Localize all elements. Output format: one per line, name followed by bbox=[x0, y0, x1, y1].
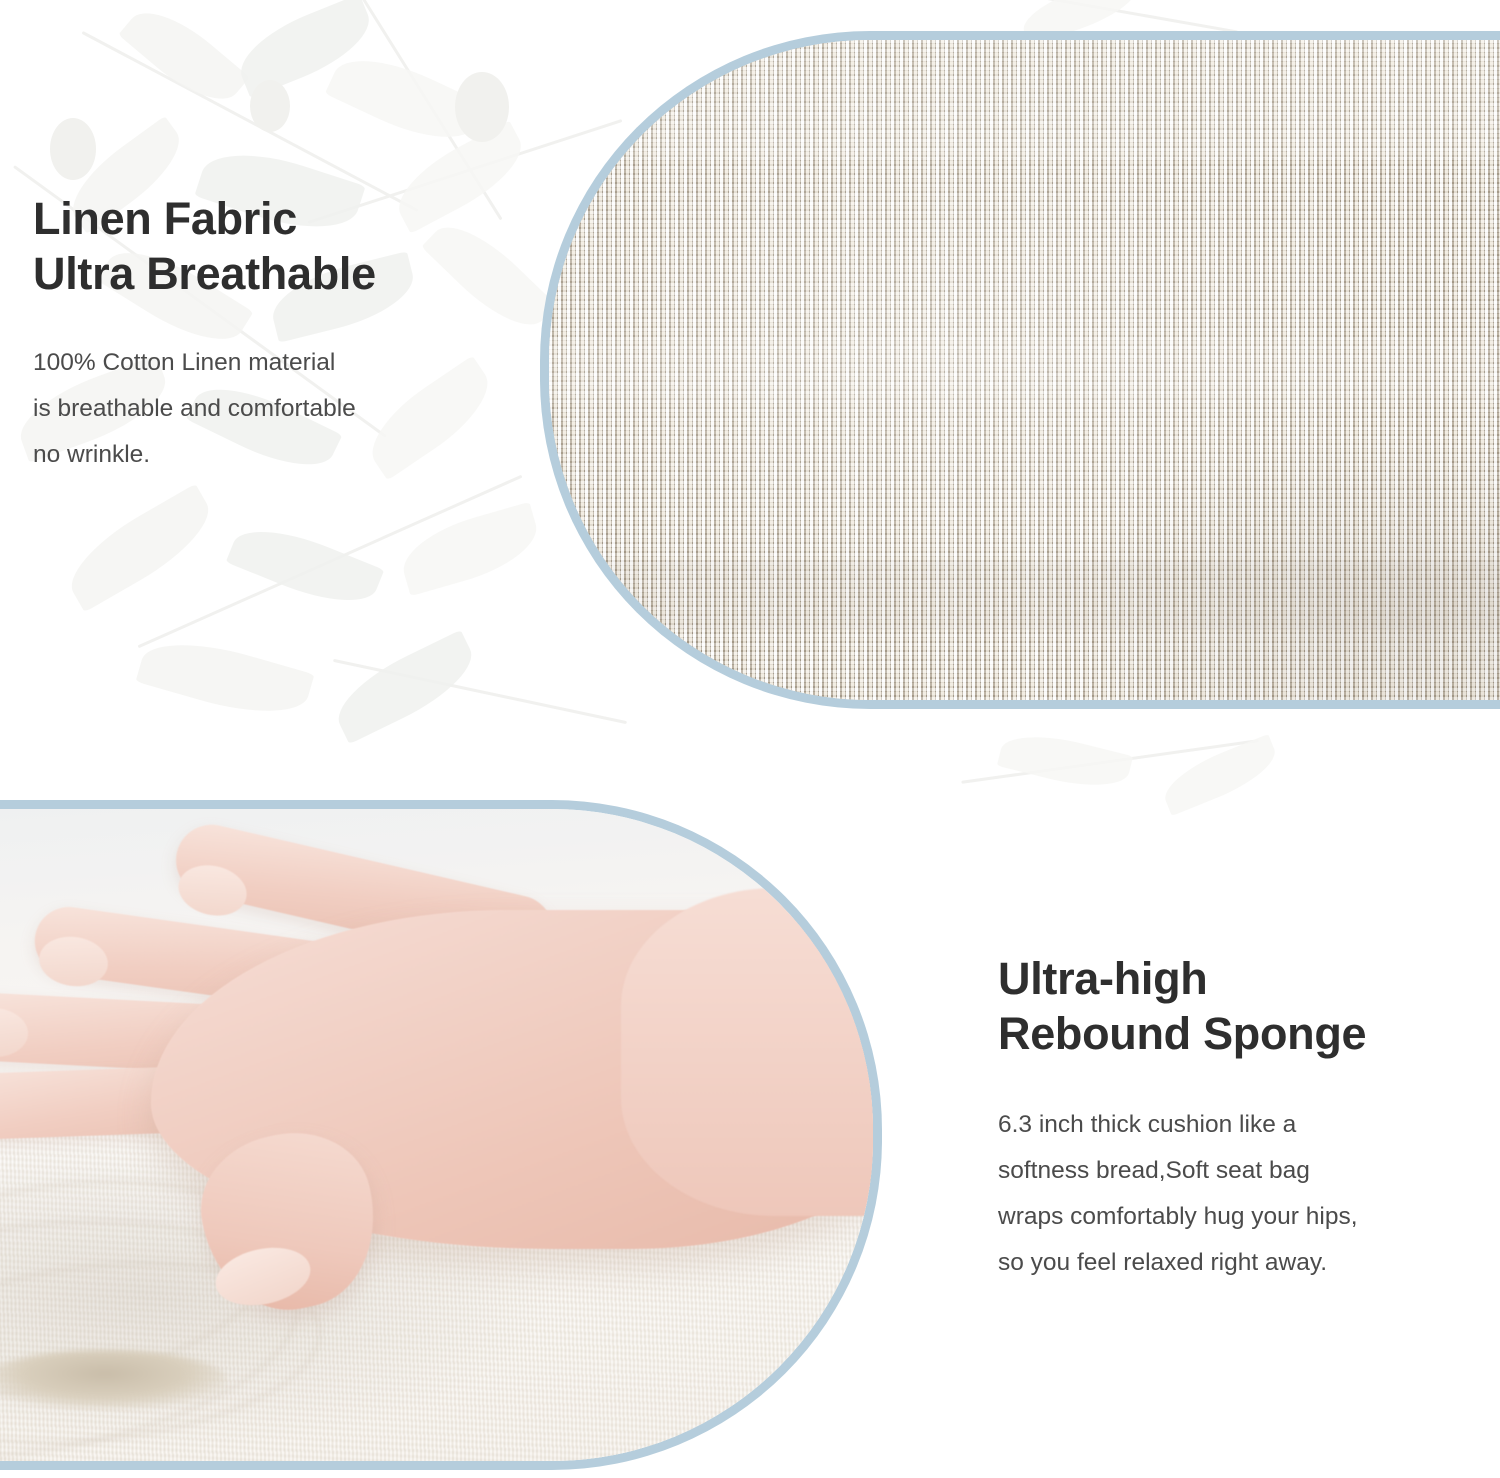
linen-text-block: Linen Fabric Ultra Breathable 100% Cotto… bbox=[33, 192, 503, 478]
sponge-body-line-1: 6.3 inch thick cushion like a bbox=[998, 1102, 1493, 1148]
sponge-body-line-2: softness bread,Soft seat bag bbox=[998, 1148, 1493, 1194]
linen-headline-line-1: Linen Fabric bbox=[33, 192, 503, 247]
sponge-headline-line-1: Ultra-high bbox=[998, 952, 1493, 1007]
sponge-text-block: Ultra-high Rebound Sponge 6.3 inch thick… bbox=[998, 952, 1493, 1286]
linen-headline-line-2: Ultra Breathable bbox=[33, 247, 503, 302]
product-feature-image: Linen Fabric Ultra Breathable 100% Cotto… bbox=[0, 0, 1500, 1478]
sponge-body-line-3: wraps comfortably hug your hips, bbox=[998, 1194, 1493, 1240]
linen-fabric-image-panel bbox=[540, 31, 1500, 709]
hand-graphic bbox=[0, 822, 873, 1370]
memory-foam-image-panel bbox=[0, 800, 882, 1470]
hand-pressing-memory-foam-image bbox=[0, 809, 873, 1461]
wrist bbox=[621, 888, 873, 1217]
linen-body-line-1: 100% Cotton Linen material bbox=[33, 340, 503, 386]
linen-body-line-3: no wrinkle. bbox=[33, 432, 503, 478]
linen-fabric-closeup-image bbox=[549, 40, 1500, 700]
sponge-body-line-4: so you feel relaxed right away. bbox=[998, 1240, 1493, 1286]
linen-body-line-2: is breathable and comfortable bbox=[33, 386, 503, 432]
sponge-headline-line-2: Rebound Sponge bbox=[998, 1007, 1493, 1062]
